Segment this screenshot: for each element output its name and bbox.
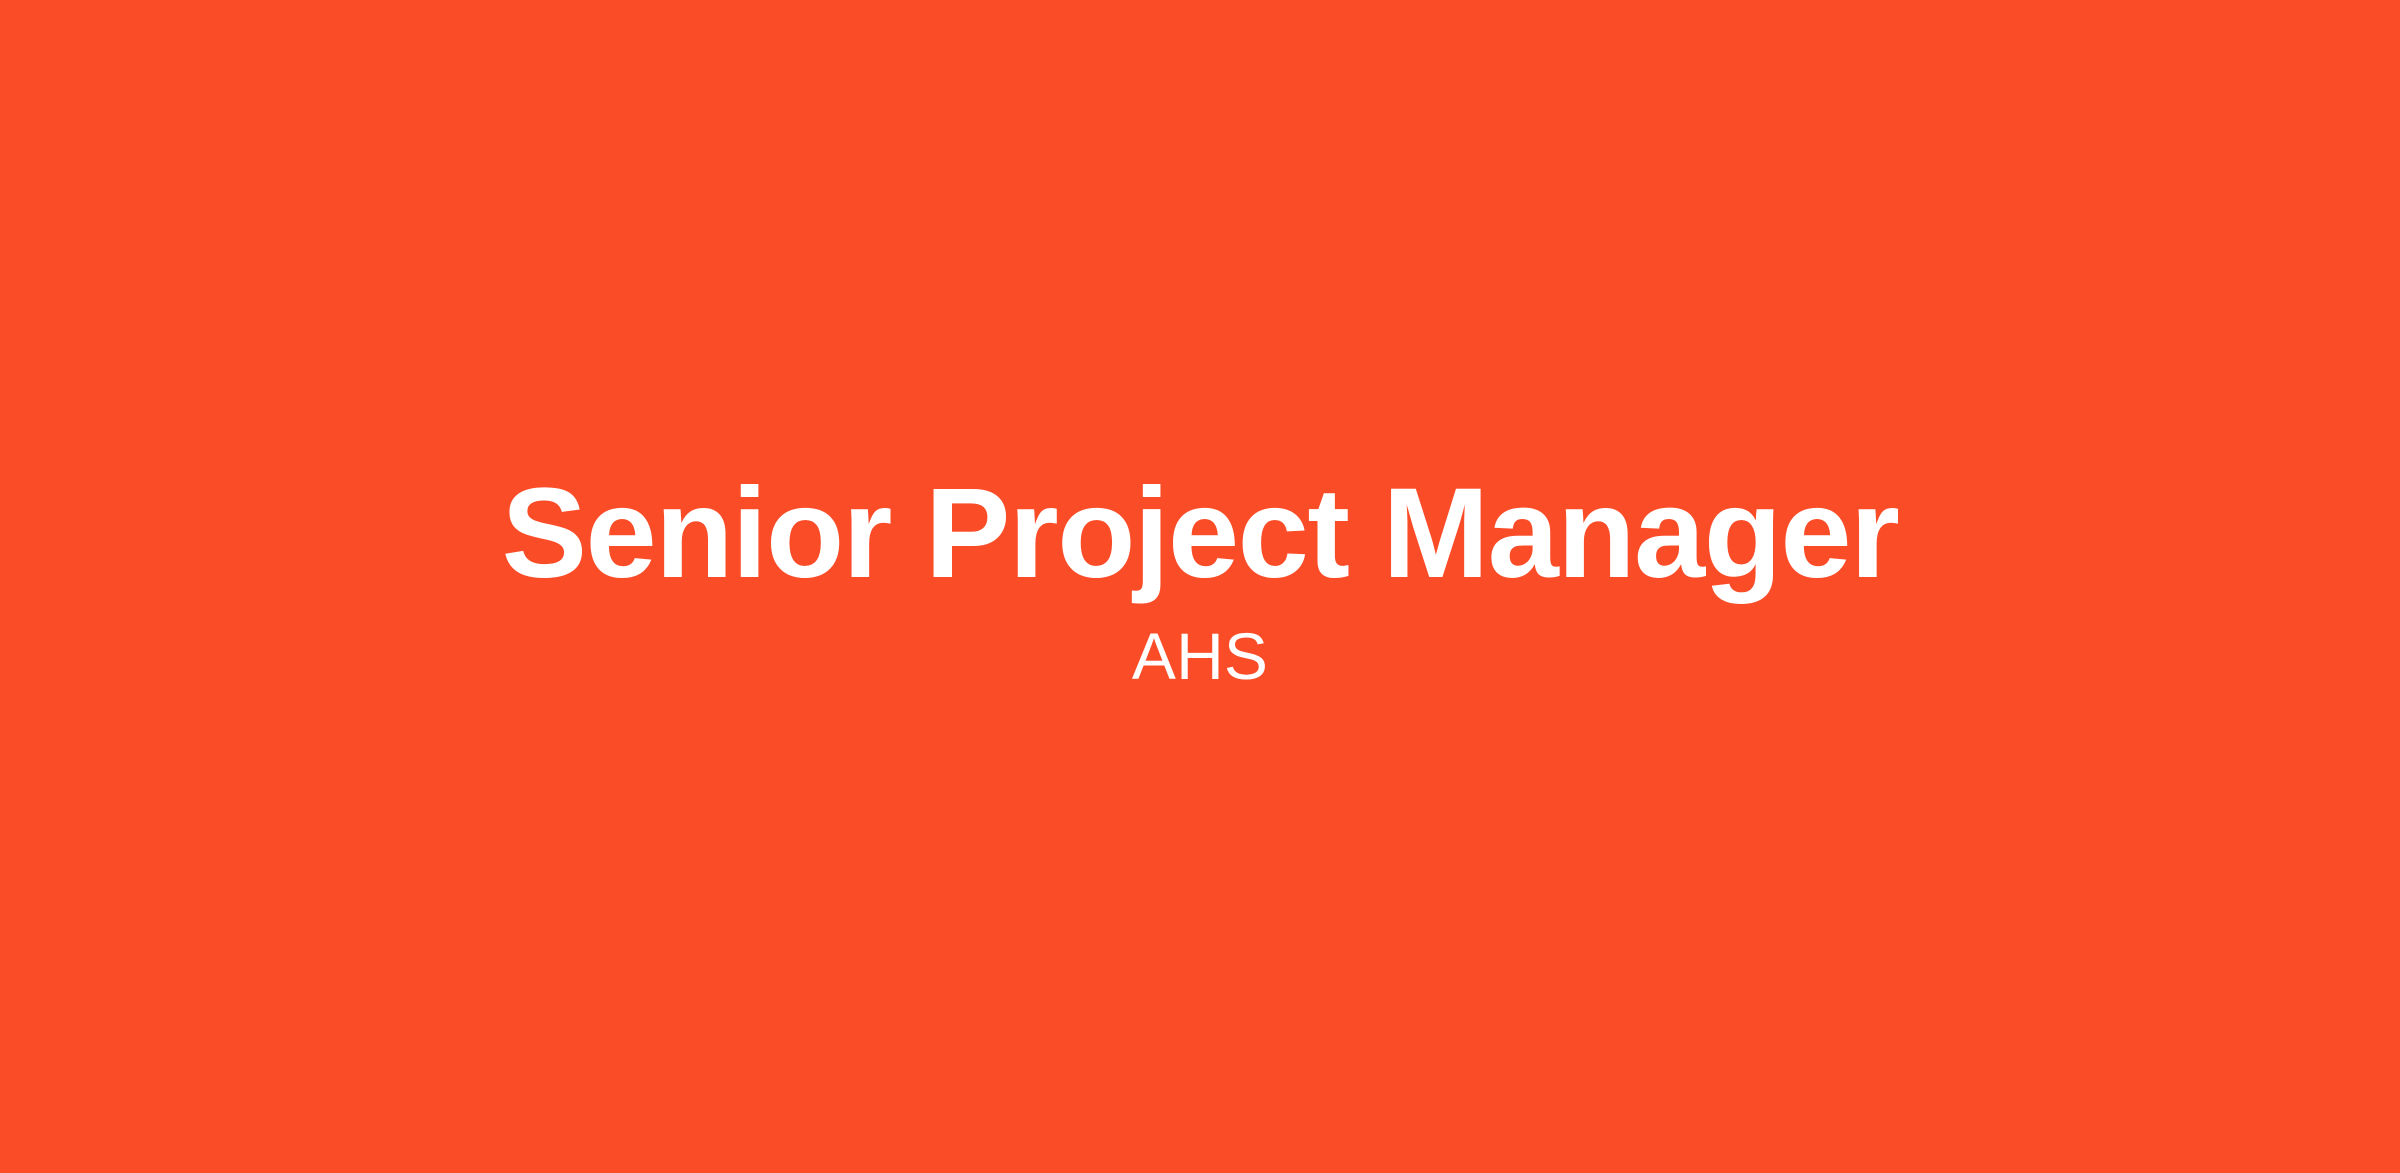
job-header-content: Senior Project Manager AHS <box>0 470 2400 693</box>
job-title: Senior Project Manager <box>502 470 1899 598</box>
company-name: AHS <box>1132 620 1268 693</box>
job-header-banner: Senior Project Manager AHS <box>0 0 2400 1173</box>
